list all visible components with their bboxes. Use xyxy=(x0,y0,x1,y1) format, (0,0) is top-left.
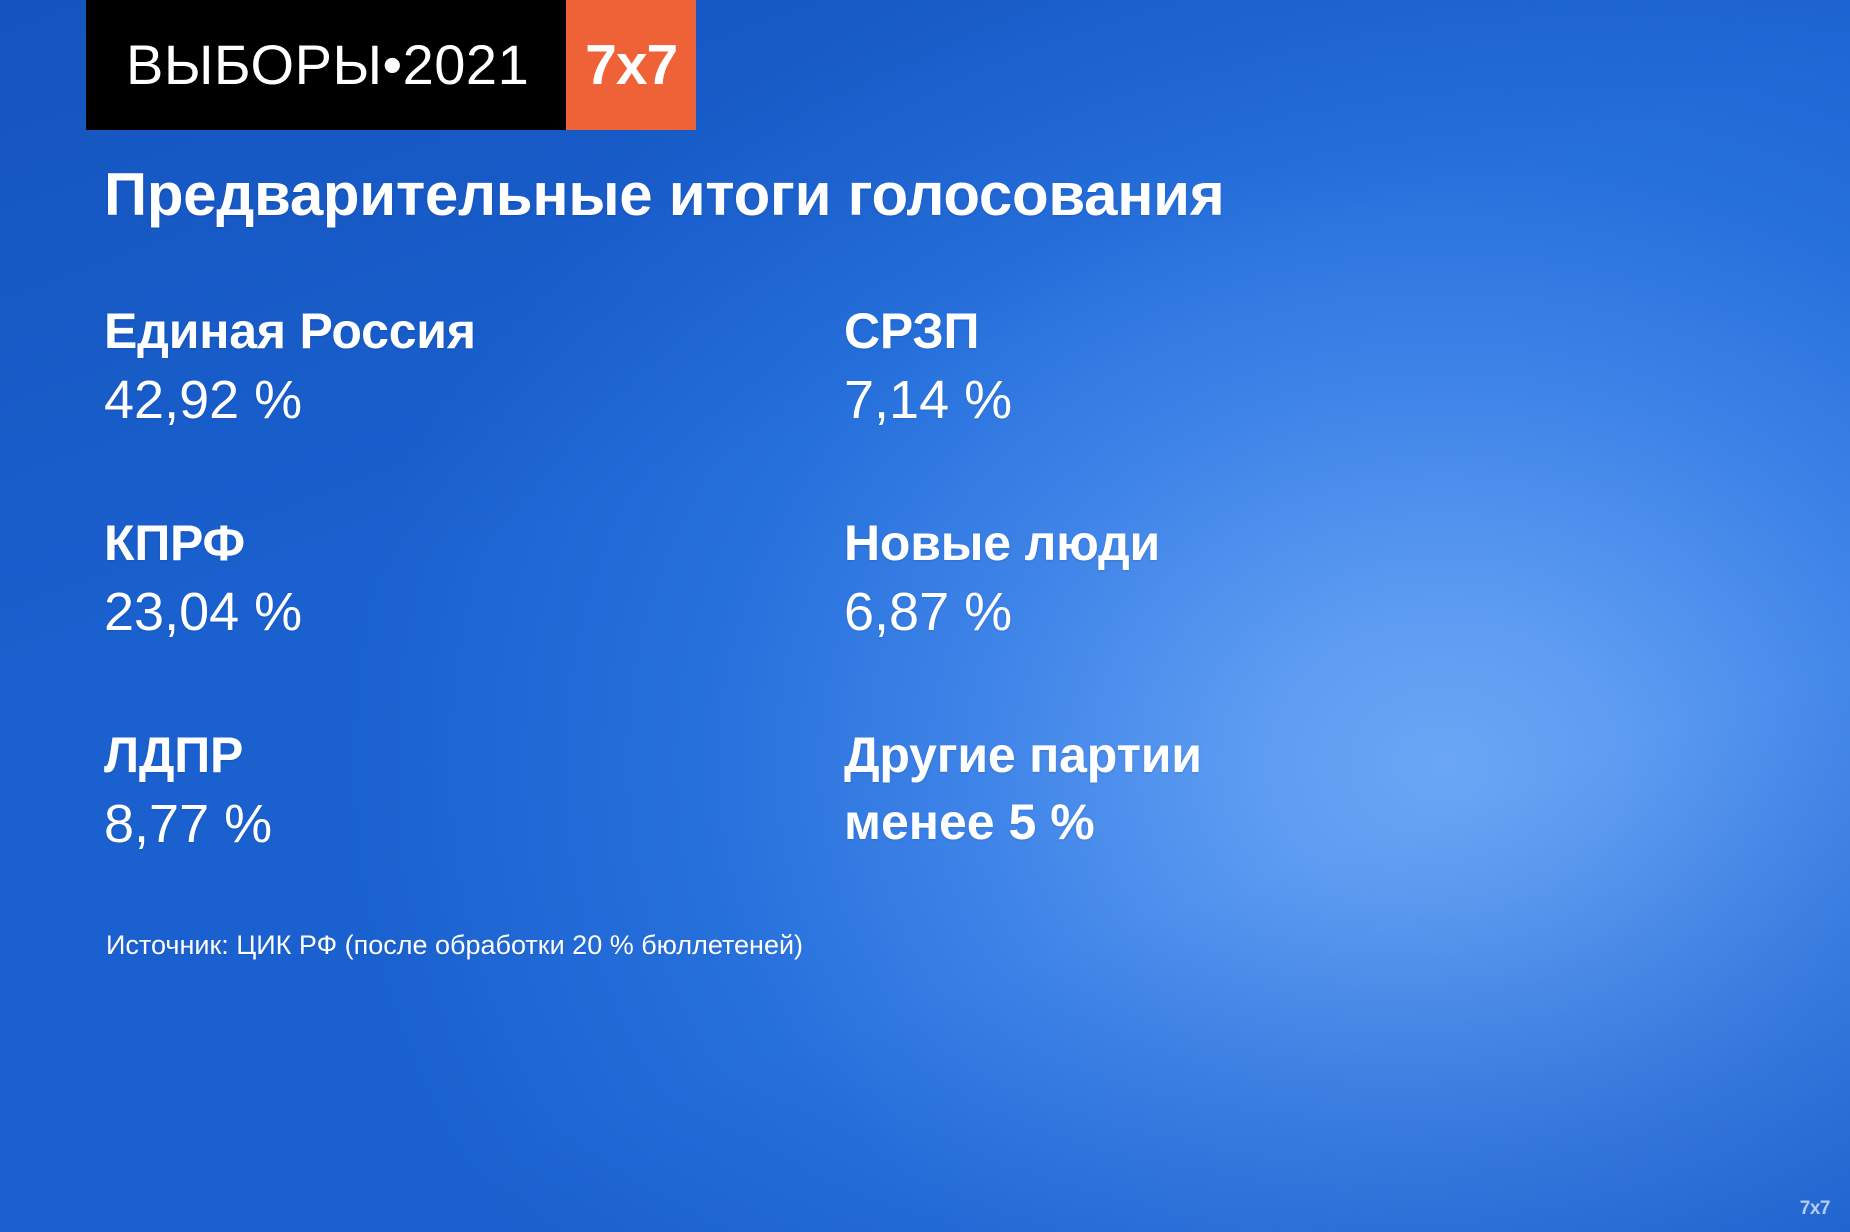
result-item-other-parties: Другие партии менее 5 % xyxy=(844,729,1584,941)
result-item-united-russia: Единая Россия 42,92 % xyxy=(104,305,844,517)
page-title: Предварительные итоги голосования xyxy=(104,160,1224,229)
party-name: Другие партии xyxy=(844,729,1584,782)
brand-logo-label: 7x7 xyxy=(585,37,677,94)
party-value: 8,77 % xyxy=(104,796,844,853)
source-note: Источник: ЦИК РФ (после обработки 20 % б… xyxy=(106,930,803,961)
result-item-kprf: КПРФ 23,04 % xyxy=(104,517,844,729)
brand-watermark: 7x7 xyxy=(1800,1198,1830,1220)
party-value: менее 5 % xyxy=(844,796,1584,849)
party-value: 23,04 % xyxy=(104,584,844,641)
brand-logo-block: 7x7 xyxy=(566,0,696,130)
party-name: КПРФ xyxy=(104,517,844,570)
header-banner: ВЫБОРЫ•2021 7x7 xyxy=(86,0,696,130)
party-value: 42,92 % xyxy=(104,372,844,429)
party-name: Новые люди xyxy=(844,517,1584,570)
result-item-new-people: Новые люди 6,87 % xyxy=(844,517,1584,729)
party-name: ЛДПР xyxy=(104,729,844,782)
party-name: СРЗП xyxy=(844,305,1584,358)
party-value: 6,87 % xyxy=(844,584,1584,641)
result-item-srzp: СРЗП 7,14 % xyxy=(844,305,1584,517)
election-banner-label: ВЫБОРЫ•2021 xyxy=(126,37,529,93)
result-item-ldpr: ЛДПР 8,77 % xyxy=(104,729,844,941)
party-name: Единая Россия xyxy=(104,305,844,358)
party-value: 7,14 % xyxy=(844,372,1584,429)
results-grid: Единая Россия 42,92 % СРЗП 7,14 % КПРФ 2… xyxy=(104,305,1584,941)
election-banner-block: ВЫБОРЫ•2021 xyxy=(86,0,566,130)
